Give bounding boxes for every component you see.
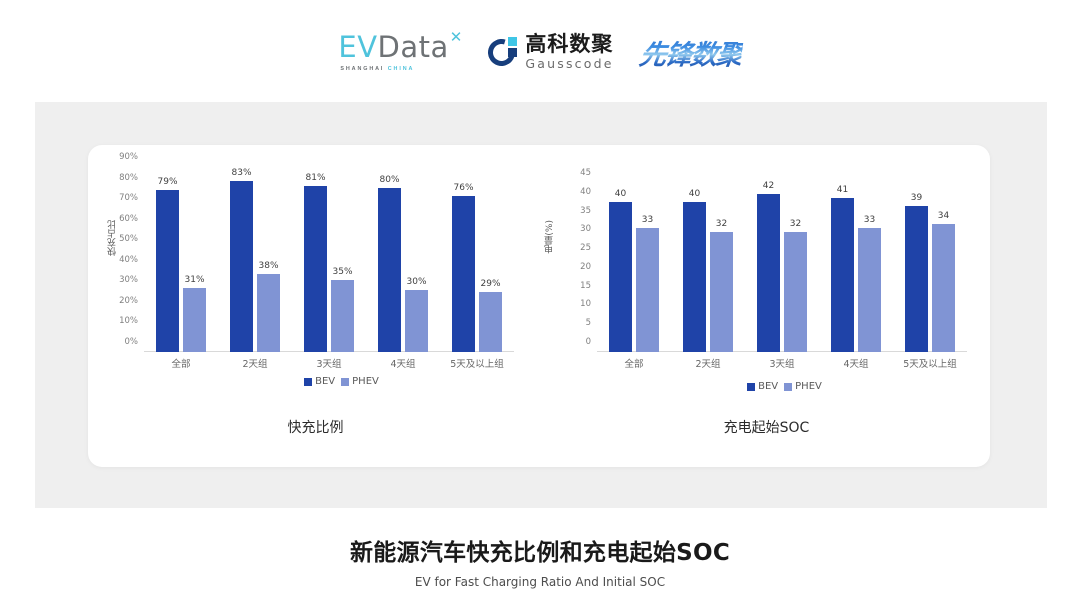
left-chart-legend-swatch-icon <box>304 378 312 386</box>
left-chart-bar-phev[interactable]: 38% <box>257 274 280 352</box>
right-chart-y-tick: 0 <box>586 337 591 347</box>
left-chart-legend-label: PHEV <box>352 376 379 387</box>
left-chart-y-tick: 30% <box>119 275 138 285</box>
evdata-logo: EV Data ✕ SHANGHAI CHINA <box>338 33 462 72</box>
evdata-data-text: Data <box>378 33 449 62</box>
left-chart-bar-value-label: 76% <box>453 183 473 193</box>
right-chart-bar-group: 4232 <box>745 183 819 352</box>
right-chart-bar-value-label: 41 <box>837 185 848 195</box>
right-chart-bar-phev[interactable]: 33 <box>858 228 881 352</box>
right-chart-bar-group: 4033 <box>597 183 671 352</box>
right-chart-bar-value-label: 39 <box>911 193 922 203</box>
evdata-tagline-city: SHANGHAI <box>340 66 387 72</box>
left-chart-y-tick: 90% <box>119 152 138 162</box>
left-chart-bar-phev[interactable]: 35% <box>331 280 354 352</box>
chart-right-legend: BEVPHEV <box>561 381 1008 392</box>
right-chart-bar-value-label: 32 <box>790 219 801 229</box>
right-chart-x-label: 5天及以上组 <box>893 356 967 370</box>
right-chart-y-tick: 30 <box>580 224 591 234</box>
chart-fast-charging-ratio: 快充占比 79%31%83%38%81%35%80%30%76%29% 0%10… <box>88 145 543 467</box>
right-chart-y-tick: 5 <box>586 318 591 328</box>
charts-card: 快充占比 79%31%83%38%81%35%80%30%76%29% 0%10… <box>88 145 990 467</box>
evdata-tagline-country: CHINA <box>388 66 415 72</box>
chart-left-x-axis-labels: 全部2天组3天组4天组5天及以上组 <box>144 356 514 370</box>
left-chart-legend-label: BEV <box>315 376 335 387</box>
left-chart-y-tick: 60% <box>119 214 138 224</box>
page-subtitle: EV for Fast Charging Ratio And Initial S… <box>0 575 1080 589</box>
chart-left-legend: BEVPHEV <box>114 376 569 387</box>
right-chart-bar-value-label: 33 <box>642 215 653 225</box>
left-chart-y-tick: 80% <box>119 173 138 183</box>
left-chart-bar-bev[interactable]: 80% <box>378 188 401 352</box>
left-chart-bar-value-label: 81% <box>305 173 325 183</box>
left-chart-bar-group: 76%29% <box>440 167 514 352</box>
left-chart-bar-phev[interactable]: 31% <box>183 288 206 352</box>
right-chart-bar-group: 4133 <box>819 183 893 352</box>
left-chart-bar-value-label: 79% <box>157 177 177 187</box>
left-chart-y-tick: 10% <box>119 316 138 326</box>
right-chart-bar-phev[interactable]: 32 <box>784 232 807 352</box>
left-chart-bar-group: 83%38% <box>218 167 292 352</box>
chart-right-plot-area: 40334032423241333934 051015202530354045 <box>597 183 967 352</box>
right-chart-bar-phev[interactable]: 33 <box>636 228 659 352</box>
right-chart-legend-label: PHEV <box>795 381 822 392</box>
right-chart-bar-group: 4032 <box>671 183 745 352</box>
left-chart-bar-group: 79%31% <box>144 167 218 352</box>
gausscode-logo: 高科数聚 Gausscode <box>488 34 613 71</box>
evdata-x-icon: ✕ <box>450 28 463 46</box>
gausscode-text: 高科数聚 Gausscode <box>525 34 613 71</box>
footer: 新能源汽车快充比例和充电起始SOC EV for Fast Charging R… <box>0 533 1080 589</box>
left-chart-x-label: 3天组 <box>292 356 366 370</box>
chart-left-bar-groups: 79%31%83%38%81%35%80%30%76%29% <box>144 167 514 352</box>
left-chart-bar-value-label: 83% <box>231 168 251 178</box>
left-chart-bar-bev[interactable]: 83% <box>230 181 253 352</box>
evdata-tagline: SHANGHAI CHINA <box>340 66 414 72</box>
xianfeng-logo: 先锋数聚 <box>637 33 744 72</box>
left-chart-legend-item-bev[interactable]: BEV <box>304 376 335 387</box>
right-chart-bar-group: 3934 <box>893 183 967 352</box>
right-chart-bar-bev[interactable]: 39 <box>905 206 928 352</box>
chart-initial-soc: 电量(%) 40334032423241333934 0510152025303… <box>543 145 990 467</box>
left-chart-bar-value-label: 31% <box>184 275 204 285</box>
right-chart-bar-phev[interactable]: 32 <box>710 232 733 352</box>
gausscode-mark-icon <box>488 37 518 67</box>
left-chart-y-tick: 20% <box>119 296 138 306</box>
left-chart-bar-bev[interactable]: 76% <box>452 196 475 352</box>
right-chart-y-tick: 10 <box>580 299 591 309</box>
right-chart-legend-label: BEV <box>758 381 778 392</box>
left-chart-bar-value-label: 30% <box>406 277 426 287</box>
left-chart-bar-value-label: 35% <box>332 267 352 277</box>
left-chart-y-tick: 0% <box>125 337 139 347</box>
right-chart-bar-value-label: 33 <box>864 215 875 225</box>
left-chart-bar-phev[interactable]: 29% <box>479 292 502 352</box>
gausscode-bar-shape <box>508 48 517 57</box>
left-chart-bar-value-label: 38% <box>258 261 278 271</box>
chart-right-x-axis-labels: 全部2天组3天组4天组5天及以上组 <box>597 356 967 370</box>
left-chart-legend-swatch-icon <box>341 378 349 386</box>
left-chart-x-label: 全部 <box>144 356 218 370</box>
right-chart-bar-bev[interactable]: 40 <box>609 202 632 352</box>
left-chart-y-tick: 50% <box>119 234 138 244</box>
right-chart-y-tick: 40 <box>580 187 591 197</box>
chart-left-plot-area: 79%31%83%38%81%35%80%30%76%29% 0%10%20%3… <box>144 167 514 352</box>
chart-right-caption: 充电起始SOC <box>543 417 990 437</box>
right-chart-x-label: 4天组 <box>819 356 893 370</box>
right-chart-bar-value-label: 40 <box>615 189 626 199</box>
page-title: 新能源汽车快充比例和充电起始SOC <box>0 533 1080 567</box>
left-chart-y-tick: 40% <box>119 255 138 265</box>
left-chart-bar-bev[interactable]: 81% <box>304 186 327 353</box>
right-chart-bar-bev[interactable]: 42 <box>757 194 780 352</box>
left-chart-bar-value-label: 80% <box>379 175 399 185</box>
gausscode-en-name: Gausscode <box>525 58 613 71</box>
left-chart-x-label: 4天组 <box>366 356 440 370</box>
right-chart-bar-value-label: 40 <box>689 189 700 199</box>
left-chart-bar-group: 81%35% <box>292 167 366 352</box>
right-chart-legend-item-bev[interactable]: BEV <box>747 381 778 392</box>
chart-right-bar-groups: 40334032423241333934 <box>597 183 967 352</box>
gausscode-cn-name: 高科数聚 <box>525 34 613 55</box>
right-chart-bar-value-label: 32 <box>716 219 727 229</box>
chart-right-y-axis-title: 电量(%) <box>543 220 556 254</box>
evdata-ev-text: EV <box>338 33 377 62</box>
gausscode-square-shape <box>508 37 517 46</box>
chart-left-y-axis-title: 快充占比 <box>106 220 119 256</box>
right-chart-y-tick: 20 <box>580 262 591 272</box>
right-chart-bar-bev[interactable]: 40 <box>683 202 706 352</box>
left-chart-x-label: 5天及以上组 <box>440 356 514 370</box>
right-chart-x-label: 3天组 <box>745 356 819 370</box>
right-chart-y-tick: 45 <box>580 168 591 178</box>
right-chart-bar-value-label: 34 <box>938 211 949 221</box>
right-chart-bar-bev[interactable]: 41 <box>831 198 854 352</box>
right-chart-y-tick: 25 <box>580 243 591 253</box>
right-chart-y-tick: 15 <box>580 281 591 291</box>
right-chart-x-label: 全部 <box>597 356 671 370</box>
left-chart-bar-bev[interactable]: 79% <box>156 190 179 352</box>
right-chart-bar-value-label: 42 <box>763 181 774 191</box>
left-chart-bar-value-label: 29% <box>480 279 500 289</box>
left-chart-legend-item-phev[interactable]: PHEV <box>341 376 379 387</box>
logo-strip: EV Data ✕ SHANGHAI CHINA 高科数聚 Gausscode … <box>0 22 1080 82</box>
left-chart-y-tick: 70% <box>119 193 138 203</box>
left-chart-x-label: 2天组 <box>218 356 292 370</box>
right-chart-legend-swatch-icon <box>747 383 755 391</box>
chart-left-caption: 快充比例 <box>88 417 543 437</box>
right-chart-x-label: 2天组 <box>671 356 745 370</box>
left-chart-bar-group: 80%30% <box>366 167 440 352</box>
right-chart-y-tick: 35 <box>580 206 591 216</box>
left-chart-bar-phev[interactable]: 30% <box>405 290 428 352</box>
right-chart-legend-swatch-icon <box>784 383 792 391</box>
right-chart-legend-item-phev[interactable]: PHEV <box>784 381 822 392</box>
right-chart-bar-phev[interactable]: 34 <box>932 224 955 352</box>
evdata-wordmark: EV Data ✕ <box>338 33 462 62</box>
